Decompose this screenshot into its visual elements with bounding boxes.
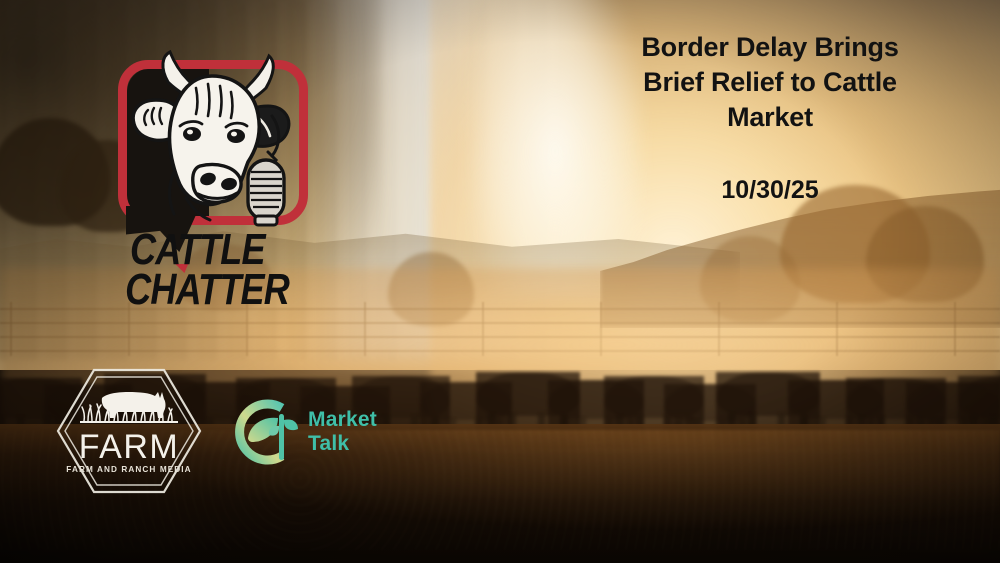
headline-line-1: Border Delay Brings [560, 30, 980, 65]
microphone-icon [248, 152, 284, 225]
episode-date: 10/30/25 [560, 176, 980, 205]
title-block: Border Delay Brings Brief Relief to Catt… [560, 30, 980, 205]
bull-head-icon [116, 48, 308, 230]
cattle-chatter-wordmark: CATTLE CHATTER [130, 230, 286, 311]
episode-title-card: Border Delay Brings Brief Relief to Catt… [0, 0, 1000, 563]
cattle-chatter-wordmark-line2: CHATTER [125, 270, 286, 310]
market-talk-wordmark: Market Talk [308, 408, 424, 456]
headline-line-3: Market [560, 100, 980, 135]
headline: Border Delay Brings Brief Relief to Catt… [560, 30, 980, 134]
cattle-chatter-logo: CATTLE CHATTER [112, 48, 312, 313]
farm-wordmark: FARM [79, 428, 179, 466]
market-talk-logo: Market Talk [224, 392, 424, 472]
headline-line-2: Brief Relief to Cattle [560, 65, 980, 100]
farm-and-ranch-media-logo: FARM FARM AND RANCH MEDIA [54, 366, 204, 496]
farm-tagline: FARM AND RANCH MEDIA [66, 465, 191, 474]
market-talk-mark-icon [224, 392, 304, 472]
